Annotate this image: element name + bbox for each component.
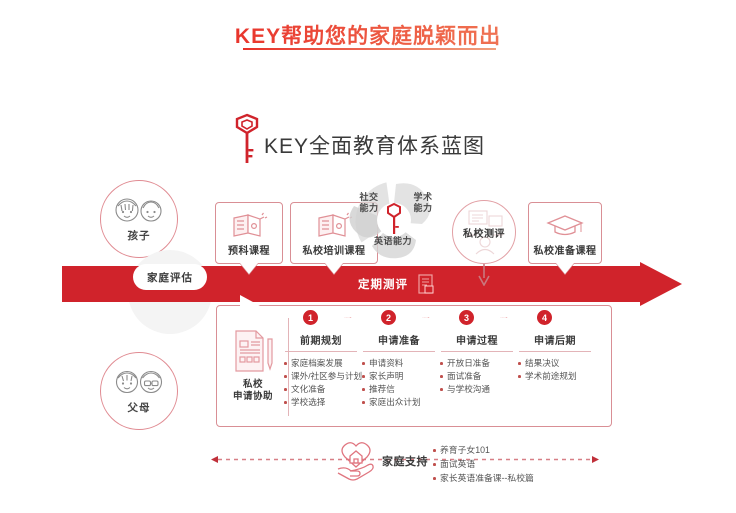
key-icon (233, 113, 261, 165)
abilities-diagram (342, 176, 446, 268)
step-rule (285, 351, 357, 352)
step-column-3: 申请过程 开放日准备 面试准备 与学校沟通 (439, 332, 515, 396)
list-item: 课外/社区参与计划 (283, 370, 359, 383)
list-item: 文化准备 (283, 383, 359, 396)
page-title: KEY帮助您的家庭脱颖而出 (0, 20, 736, 50)
family-support-list: 养育子女101 面试英语 家长英语准备课--私校篇 (432, 443, 534, 485)
infographic-canvas: KEY帮助您的家庭脱颖而出 KEY全面教育体系蓝图 (0, 0, 736, 513)
list-item: 家长英语准备课--私校篇 (432, 471, 534, 485)
panel-side-label-text: 私校 申请协助 (233, 379, 273, 403)
ability-academic-line2: 能力 (413, 203, 432, 213)
periodic-assessment-label: 定期测评 (358, 276, 408, 292)
step-title-3: 申请过程 (439, 332, 515, 351)
list-item: 学术前途规划 (517, 370, 593, 383)
assessment-document-icon (418, 274, 435, 294)
step-rule (363, 351, 435, 352)
course-card-private[interactable]: 私校准备课程 (528, 202, 602, 264)
ability-social: 社交 能力 (352, 192, 386, 214)
step-column-4: 申请后期 结果决议 学术前途规划 (517, 332, 593, 383)
step-connector-2-3 (398, 317, 454, 318)
list-item: 与学校沟通 (439, 383, 515, 396)
books-icon (230, 212, 268, 238)
list-item: 学校选择 (283, 396, 359, 409)
evaluation-down-arrow-icon (478, 264, 490, 286)
card-tail (325, 263, 343, 274)
panel-tail (240, 295, 262, 307)
list-item: 结果决议 (517, 357, 593, 370)
step-number-3: 3 (459, 310, 474, 325)
step-number-2: 2 (381, 310, 396, 325)
list-item: 开放日准备 (439, 357, 515, 370)
card-tail (556, 263, 574, 274)
step-column-2: 申请准备 申请资料 家长声明 推荐信 家庭出众计划 (361, 332, 437, 409)
list-item: 面试英语 (432, 457, 534, 471)
private-school-evaluation-label: 私校测评 (463, 225, 505, 240)
family-assessment-badge: 家庭评估 (133, 264, 207, 290)
list-item: 养育子女101 (432, 443, 534, 457)
ability-academic-line1: 学术 (413, 192, 432, 202)
blueprint-title: KEY全面教育体系蓝图 (264, 130, 485, 160)
course-card-private-label: 私校准备课程 (534, 242, 597, 257)
list-item: 家庭出众计划 (361, 396, 437, 409)
ability-social-line2: 能力 (359, 203, 378, 213)
course-card-prep[interactable]: 预科课程 (215, 202, 283, 264)
persona-parent-label: 父母 (128, 400, 151, 415)
step-rule (441, 351, 513, 352)
step-items-3: 开放日准备 面试准备 与学校沟通 (439, 357, 515, 396)
step-rule (519, 351, 591, 352)
persona-parent: 父母 (100, 352, 178, 430)
step-connector-3-4 (476, 317, 532, 318)
step-connector-1-2 (320, 317, 376, 318)
document-pencil-icon (230, 329, 276, 373)
step-column-1: 前期规划 家庭档案发展 课外/社区参与计划 文化准备 学校选择 (283, 332, 359, 409)
list-item: 面试准备 (439, 370, 515, 383)
family-support-label: 家庭支持 (382, 453, 428, 469)
title-underline (243, 48, 496, 50)
ability-english: 英语能力 (362, 236, 424, 247)
step-title-2: 申请准备 (361, 332, 437, 351)
course-card-prep-label: 预科课程 (228, 242, 270, 257)
list-item: 家庭档案发展 (283, 357, 359, 370)
step-items-1: 家庭档案发展 课外/社区参与计划 文化准备 学校选择 (283, 357, 359, 409)
two-children-faces-icon (110, 195, 168, 225)
step-items-4: 结果决议 学术前途规划 (517, 357, 593, 383)
panel-side-line1: 私校 (243, 379, 263, 390)
list-item: 家长声明 (361, 370, 437, 383)
two-parent-faces-icon (110, 367, 168, 397)
card-tail (240, 263, 258, 274)
hand-heart-home-icon (334, 440, 378, 482)
step-title-4: 申请后期 (517, 332, 593, 351)
panel-side-label: 私校 申请协助 (222, 312, 284, 420)
step-items-2: 申请资料 家长声明 推荐信 家庭出众计划 (361, 357, 437, 409)
step-number-4: 4 (537, 310, 552, 325)
panel-side-line2: 申请协助 (233, 391, 273, 402)
step-title-1: 前期规划 (283, 332, 359, 351)
ability-social-line1: 社交 (359, 192, 378, 202)
step-number-1: 1 (303, 310, 318, 325)
graduation-cap-icon (545, 212, 585, 238)
persona-child: 孩子 (100, 180, 178, 258)
list-item: 推荐信 (361, 383, 437, 396)
ability-academic: 学术 能力 (406, 192, 440, 214)
list-item: 申请资料 (361, 357, 437, 370)
private-school-evaluation[interactable]: 私校测评 (452, 200, 516, 264)
persona-child-label: 孩子 (128, 228, 151, 243)
application-steps: 1 2 3 4 前期规划 家庭档案发展 课外/社区参与计划 文化准备 学校选择 … (295, 310, 607, 422)
